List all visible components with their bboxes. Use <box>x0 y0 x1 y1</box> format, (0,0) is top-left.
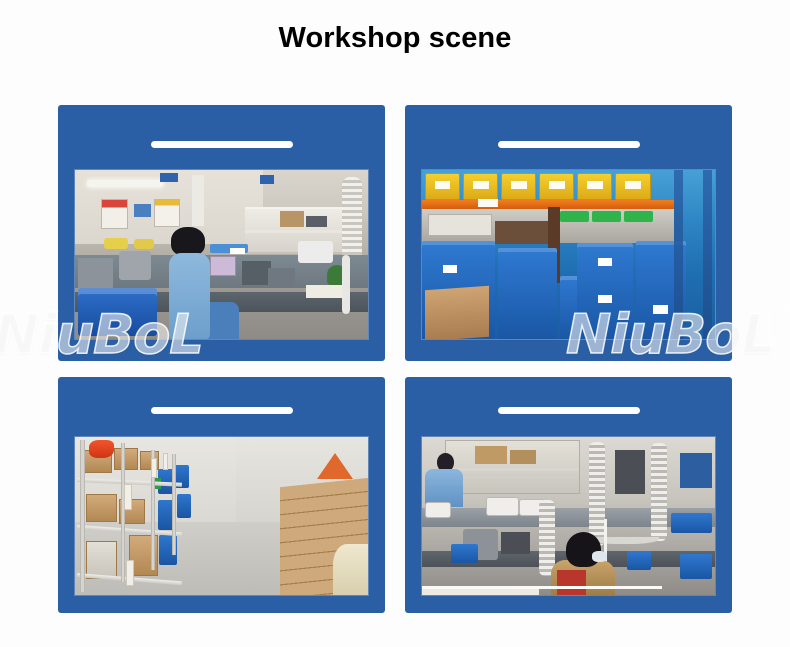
workshop-photo-assembly-line[interactable] <box>75 170 368 339</box>
signal-tower-icon <box>762 288 790 346</box>
page-title: Workshop scene <box>0 22 790 55</box>
card-accent-bar <box>151 407 293 414</box>
gallery-card-1[interactable] <box>58 105 385 361</box>
workshop-photo-storage-aisle[interactable] <box>75 437 368 595</box>
gallery-card-2[interactable] <box>405 105 732 361</box>
workshop-photo-warehouse-racks[interactable] <box>422 170 715 339</box>
workshop-photo-soldering-stations[interactable] <box>422 437 715 595</box>
gallery-card-4[interactable] <box>405 377 732 613</box>
card-accent-bar <box>498 141 640 148</box>
card-accent-bar <box>498 407 640 414</box>
gallery-card-3[interactable] <box>58 377 385 613</box>
image-gallery-grid <box>58 105 732 613</box>
page-root: Workshop scene <box>0 0 790 647</box>
card-accent-bar <box>151 141 293 148</box>
